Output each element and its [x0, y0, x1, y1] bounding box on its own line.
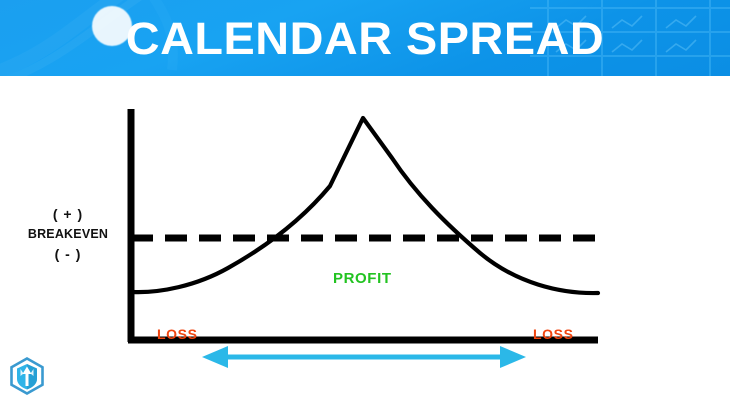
calendar-spread-infographic: CALENDAR SPREAD ( + ) BREAKEVEN ( - ) — [0, 0, 730, 400]
loss-region-label-left: LOSS — [157, 326, 198, 342]
payoff-chart: ( + ) BREAKEVEN ( - ) PROFIT LOSS LOSS S… — [0, 76, 730, 400]
header-banner: CALENDAR SPREAD — [0, 0, 730, 76]
shield-badge-logo — [8, 357, 46, 395]
page-title: CALENDAR SPREAD — [0, 0, 730, 76]
loss-region-label-right: LOSS — [533, 326, 574, 342]
y-axis-plus-label: ( + ) — [16, 204, 120, 224]
profit-region-label: PROFIT — [333, 270, 392, 287]
stock-price-arrow — [202, 346, 526, 368]
payoff-curve — [133, 118, 598, 293]
y-axis-breakeven-label: BREAKEVEN — [16, 224, 120, 244]
y-axis-labels: ( + ) BREAKEVEN ( - ) — [16, 204, 120, 264]
y-axis-minus-label: ( - ) — [16, 244, 120, 264]
